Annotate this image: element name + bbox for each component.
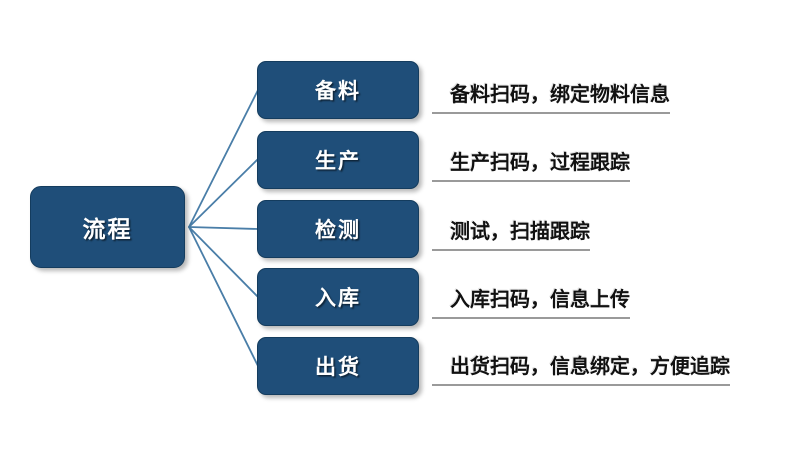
stage-node-5[interactable]: 出货	[257, 337, 419, 395]
stage-node-label-2: 生产	[315, 145, 361, 175]
root-node-label: 流程	[83, 210, 133, 244]
stage-node-label-1: 备料	[315, 75, 361, 105]
diagram-canvas: 流程 备料 生产 检测 入库 出货 备料扫码，绑定物料信息 生产扫码，过程跟踪 …	[0, 0, 800, 450]
stage-node-2[interactable]: 生产	[257, 131, 419, 189]
root-node-process[interactable]: 流程	[30, 186, 185, 268]
stage-description-1: 备料扫码，绑定物料信息	[432, 78, 670, 114]
connector-line-4	[189, 227, 258, 366]
stage-node-3[interactable]: 检测	[257, 200, 419, 258]
stage-node-label-4: 入库	[315, 282, 361, 312]
stage-description-3: 测试，扫描跟踪	[432, 215, 590, 251]
connector-line-3	[189, 227, 258, 297]
stage-node-label-3: 检测	[315, 214, 361, 244]
stage-node-4[interactable]: 入库	[257, 268, 419, 326]
stage-description-4: 入库扫码，信息上传	[432, 283, 630, 319]
stage-description-5: 出货扫码，信息绑定，方便追踪	[432, 350, 730, 386]
stage-description-2: 生产扫码，过程跟踪	[432, 146, 630, 182]
connector-line-2	[189, 227, 258, 229]
connector-line-1	[189, 159, 258, 227]
stage-node-1[interactable]: 备料	[257, 61, 419, 119]
connector-line-0	[189, 90, 258, 227]
stage-node-label-5: 出货	[315, 351, 361, 381]
